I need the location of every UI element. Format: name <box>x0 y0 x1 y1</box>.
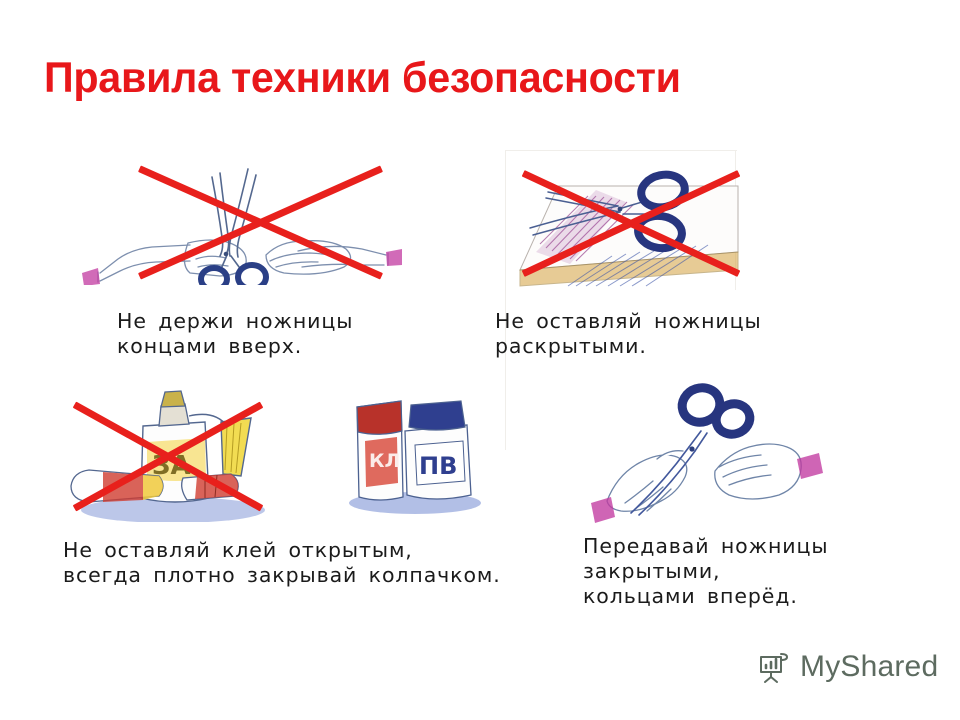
caption-pass-scissors-closed: Передавай ножницы закрытыми, кольцами вп… <box>583 534 893 609</box>
illustration-closed-glue-bottles: КЛ ПВ <box>335 375 495 515</box>
presentation-chart-icon <box>757 650 791 684</box>
svg-text:КЛ: КЛ <box>369 450 400 472</box>
slide-canvas: Правила техники безопасности <box>0 0 960 720</box>
watermark-myshared: MyShared <box>757 650 938 684</box>
caption-glue-left-open: Не оставляй клей открытым, всегда плотно… <box>63 538 533 588</box>
illustration-open-glue-bottle-and-glue-sticks: ЗА <box>55 382 285 522</box>
illustration-open-scissors-on-table <box>500 152 770 287</box>
rule-panel-pass-scissors-closed <box>565 375 855 525</box>
scan-seam-horizontal <box>505 150 737 151</box>
illustration-hand-holding-scissors-points-up <box>70 155 410 285</box>
page-title: Правила техники безопасности <box>44 52 889 104</box>
watermark-label: MyShared <box>800 650 938 684</box>
caption-scissors-points-up: Не держи ножницы концами вверх. <box>117 309 447 359</box>
rule-panel-scissors-points-up <box>70 155 410 285</box>
rule-panel-scissors-left-open <box>500 152 770 287</box>
illustration-hands-passing-closed-scissors-rings-first <box>565 375 855 525</box>
svg-text:ПВ: ПВ <box>419 452 457 480</box>
caption-scissors-left-open: Не оставляй ножницы раскрытыми. <box>495 309 835 359</box>
rule-panel-glue-left-open: ЗА <box>55 382 285 522</box>
